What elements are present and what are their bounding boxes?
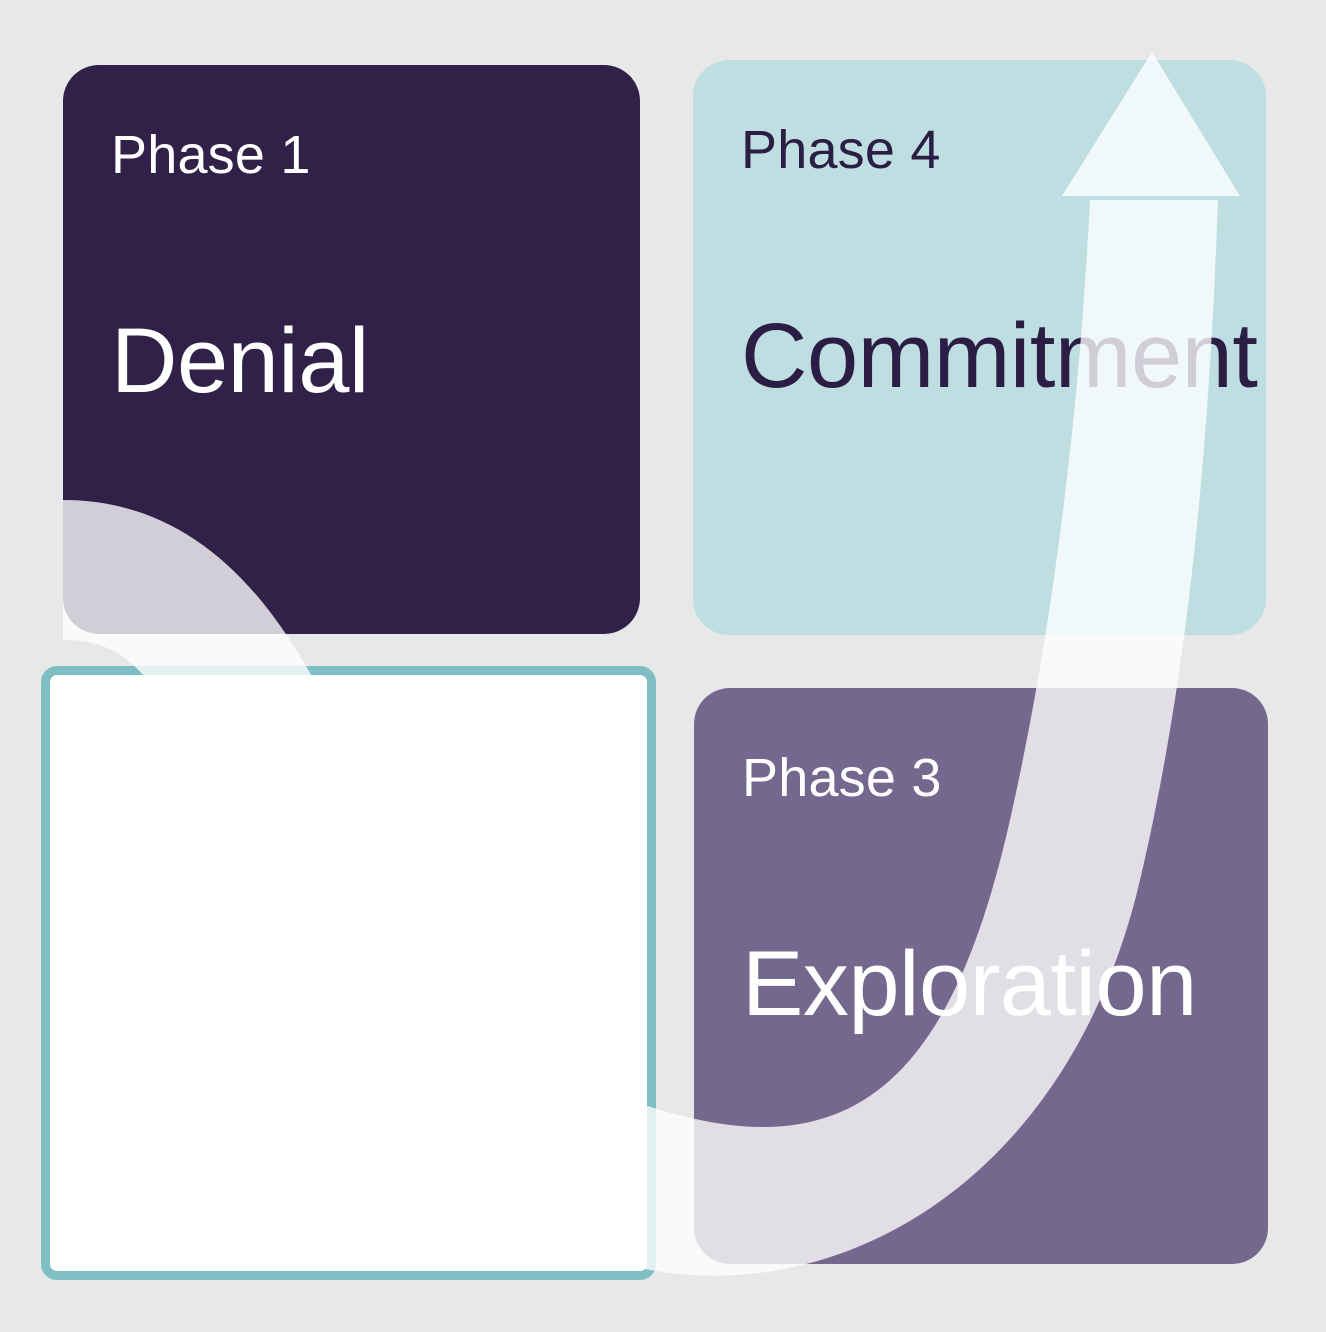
phases-of-change-diagram: Phase 1 Denial Phase 4 Commitment Phase … (0, 0, 1326, 1332)
selected-phase-frame (41, 666, 656, 1280)
phase-card-commitment-content: Phase 4 Commitment (693, 60, 1266, 635)
phase-card-exploration-content: Phase 3 Exploration (694, 688, 1268, 1264)
phase-card-denial-content: Phase 1 Denial (63, 65, 640, 634)
phase-label-4: Phase 4 (741, 122, 1266, 179)
phase-card-exploration[interactable]: Phase 3 Exploration (694, 688, 1268, 1264)
phase-title-denial: Denial (111, 315, 369, 407)
phase-card-commitment[interactable]: Phase 4 Commitment (693, 60, 1266, 635)
phase-title-commitment: Commitment (741, 310, 1257, 402)
phase-label-1: Phase 1 (111, 127, 640, 184)
phase-card-denial[interactable]: Phase 1 Denial (63, 65, 640, 634)
phase-title-exploration: Exploration (742, 938, 1197, 1030)
phase-label-3: Phase 3 (742, 750, 1268, 807)
